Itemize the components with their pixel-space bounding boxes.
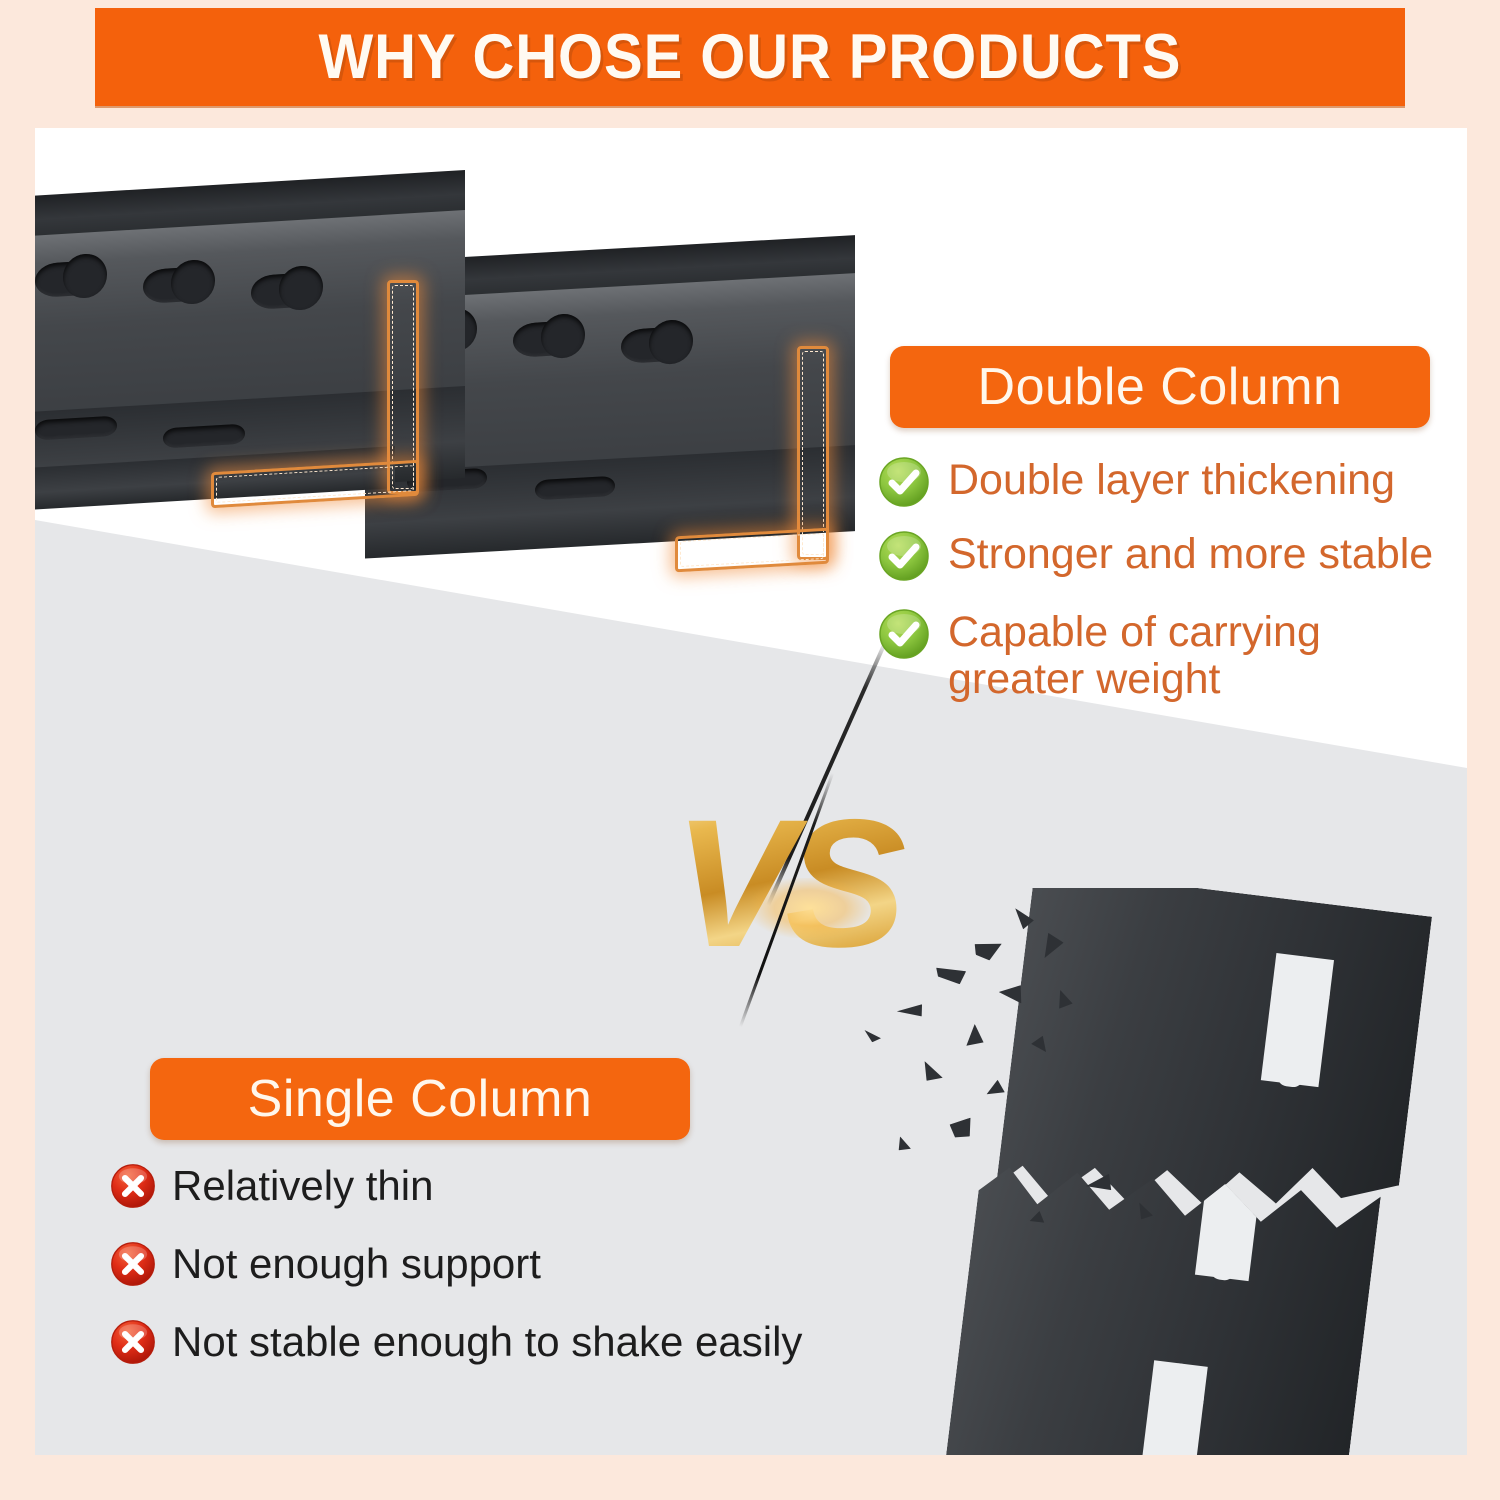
page-frame: VS Double Column bbox=[0, 0, 1500, 1500]
list-item: Double layer thickening bbox=[878, 456, 1458, 508]
edge-highlight-back-lip bbox=[675, 528, 829, 573]
post-lower-fragment bbox=[945, 1138, 1382, 1455]
badge-double-column: Double Column bbox=[890, 346, 1430, 428]
list-item-label: Not enough support bbox=[172, 1241, 541, 1287]
list-item-label: Double layer thickening bbox=[948, 456, 1395, 504]
check-circle-icon bbox=[878, 456, 930, 508]
list-item-label: Not stable enough to shake easily bbox=[172, 1319, 802, 1365]
badge-single-column-label: Single Column bbox=[248, 1069, 593, 1129]
list-item: Relatively thin bbox=[110, 1163, 900, 1209]
versus-flare-icon bbox=[750, 878, 870, 938]
page-title: WHY CHOSE OUR PRODUCTS bbox=[319, 21, 1182, 93]
list-item: Stronger and more stable bbox=[878, 530, 1458, 582]
pro-feature-list: Double layer thickening Stronger and mor… bbox=[878, 456, 1458, 725]
versus-graphic: VS bbox=[655, 783, 915, 1013]
cross-circle-icon bbox=[110, 1163, 156, 1209]
list-item-label: Capable of carrying greater weight bbox=[948, 608, 1321, 703]
badge-single-column: Single Column bbox=[150, 1058, 690, 1140]
list-item: Not stable enough to shake easily bbox=[110, 1319, 900, 1365]
cross-circle-icon bbox=[110, 1241, 156, 1287]
check-circle-icon bbox=[878, 608, 930, 660]
badge-double-column-label: Double Column bbox=[978, 357, 1343, 417]
list-item-label: Relatively thin bbox=[172, 1163, 433, 1209]
check-circle-icon bbox=[878, 530, 930, 582]
con-feature-list: Relatively thin Not enough support bbox=[110, 1163, 900, 1397]
content-card: VS Double Column bbox=[35, 128, 1467, 1455]
broken-single-column-photo bbox=[835, 888, 1467, 1455]
list-item: Not enough support bbox=[110, 1241, 900, 1287]
double-column-beam-photo bbox=[35, 128, 855, 628]
list-item: Capable of carrying greater weight bbox=[878, 608, 1458, 703]
cross-circle-icon bbox=[110, 1319, 156, 1365]
list-item-label: Stronger and more stable bbox=[948, 530, 1433, 578]
header-banner: WHY CHOSE OUR PRODUCTS bbox=[95, 8, 1405, 106]
